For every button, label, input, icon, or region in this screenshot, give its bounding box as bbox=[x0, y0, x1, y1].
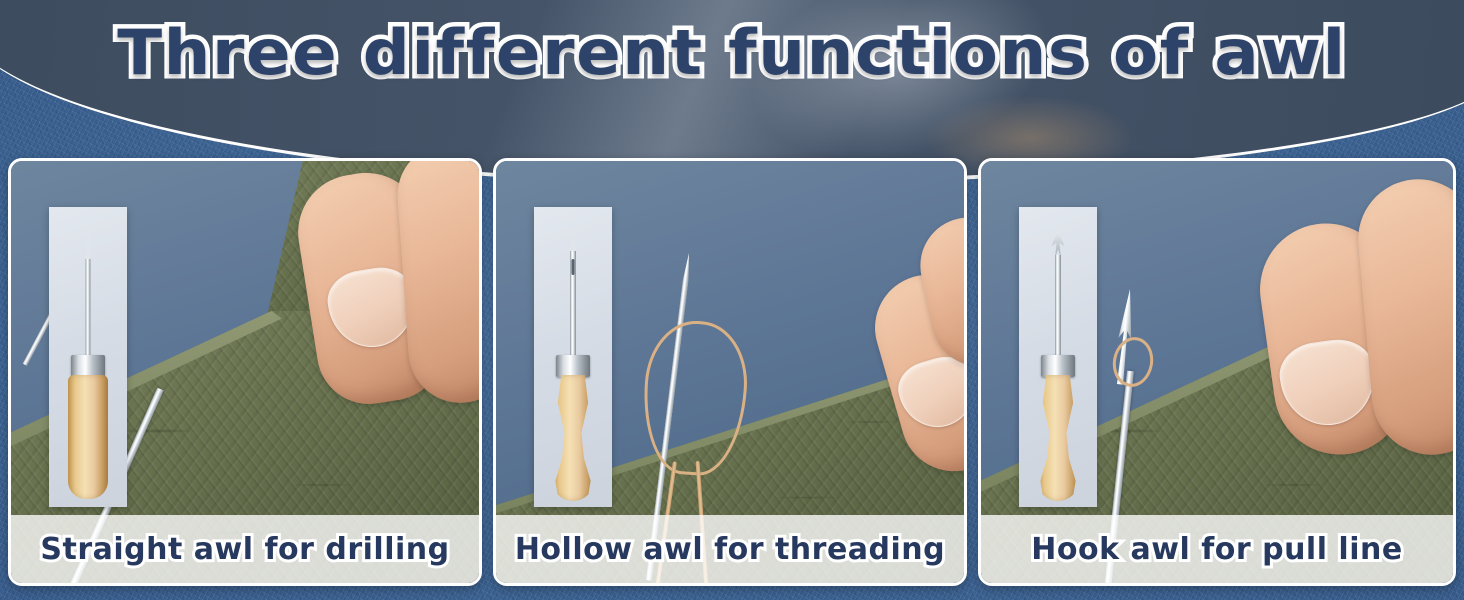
caption-label-straight: Straight awl for drilling bbox=[40, 532, 449, 567]
inset-straight-awl bbox=[49, 207, 127, 507]
awl-handle bbox=[68, 375, 108, 499]
awl-shaft bbox=[86, 259, 91, 359]
awl-ferrule bbox=[1041, 355, 1075, 377]
page-title: Three different functions of awl bbox=[0, 22, 1464, 84]
awl-shaft bbox=[1055, 255, 1061, 359]
tool-hollow-awl bbox=[534, 207, 612, 507]
awl-handle bbox=[552, 375, 594, 501]
awl-ferrule bbox=[556, 355, 590, 377]
caption-label-hook: Hook awl for pull line bbox=[1031, 532, 1402, 567]
awl-point-icon bbox=[570, 229, 576, 253]
awl-needle-eye bbox=[572, 259, 575, 275]
caption-bar-hollow: Hollow awl for threading bbox=[496, 515, 964, 583]
awl-ferrule bbox=[71, 355, 105, 377]
inset-hook-awl bbox=[1019, 207, 1097, 507]
caption-bar-straight: Straight awl for drilling bbox=[11, 515, 479, 583]
caption-label-hollow: Hollow awl for threading bbox=[515, 532, 945, 567]
tool-straight-awl bbox=[49, 207, 127, 507]
infographic-canvas: Three different functions of awl bbox=[0, 0, 1464, 600]
awl-hook-icon bbox=[1052, 231, 1065, 257]
tool-hook-awl bbox=[1019, 207, 1097, 507]
caption-bar-hook: Hook awl for pull line bbox=[981, 515, 1453, 583]
panel-hook-awl[interactable]: Hook awl for pull line bbox=[978, 158, 1456, 586]
panel-hollow-awl[interactable]: Hollow awl for threading bbox=[493, 158, 967, 586]
awl-handle bbox=[1037, 375, 1079, 501]
inset-hollow-awl bbox=[534, 207, 612, 507]
panel-straight-awl[interactable]: Straight awl for drilling bbox=[8, 158, 482, 586]
